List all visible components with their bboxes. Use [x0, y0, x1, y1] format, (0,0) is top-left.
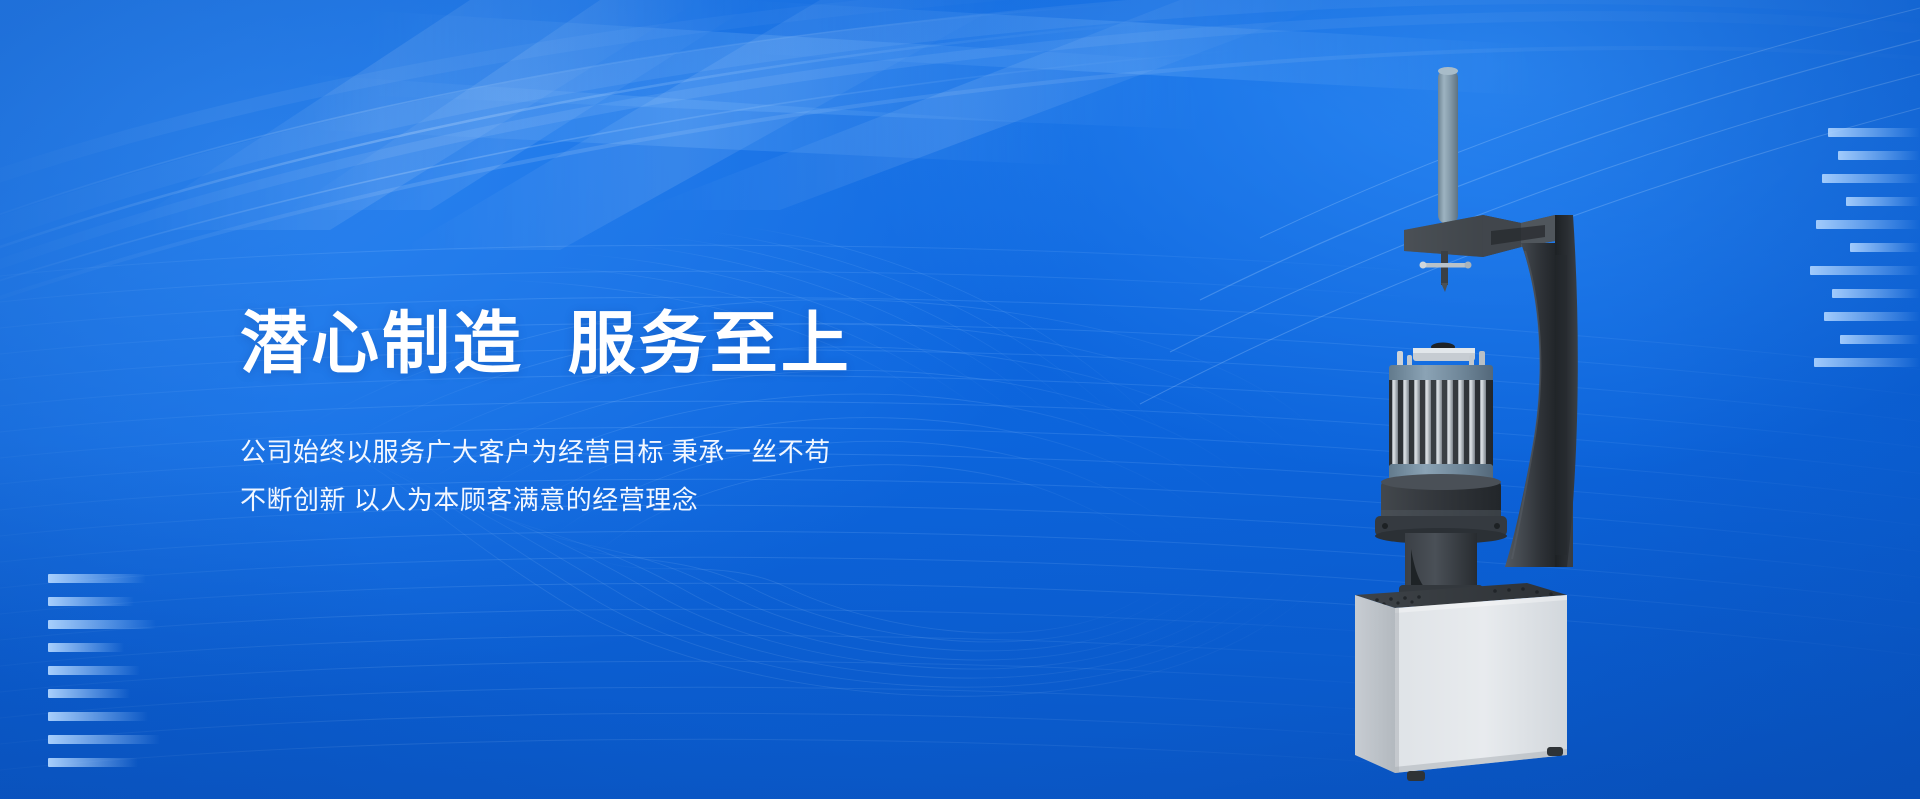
decor-bar	[48, 643, 124, 652]
decor-bar	[1838, 151, 1920, 160]
decor-bar	[1840, 335, 1920, 344]
decor-bar	[48, 758, 138, 767]
decor-bar	[1822, 174, 1920, 183]
decor-bar	[48, 735, 160, 744]
decor-bar	[48, 712, 148, 721]
filter-cartridge-part	[1389, 343, 1493, 483]
machine-illustration	[1355, 55, 1675, 799]
decor-bar	[1824, 312, 1920, 321]
vertical-guide-rod-part	[1438, 67, 1458, 224]
decor-bar	[48, 597, 134, 606]
decor-bar	[48, 666, 140, 675]
clamp-screw-part	[1420, 251, 1472, 292]
decor-bar	[1850, 243, 1920, 252]
banner-subtitle-line-2: 不断创新 以人为本顾客满意的经营理念	[240, 476, 1020, 524]
cabinet-base-part	[1355, 583, 1567, 773]
cartridge-ribs	[1392, 380, 1486, 466]
hero-banner: 潜心制造 服务至上 公司始终以服务广大客户为经营目标 秉承一丝不苟 不断创新 以…	[0, 0, 1920, 799]
banner-subtitle: 公司始终以服务广大客户为经营目标 秉承一丝不苟 不断创新 以人为本顾客满意的经营…	[240, 382, 1020, 524]
banner-copy-block: 潜心制造 服务至上 公司始终以服务广大客户为经营目标 秉承一丝不苟 不断创新 以…	[240, 306, 1020, 524]
decor-bar	[1828, 128, 1920, 137]
decor-bar	[1832, 289, 1920, 298]
bottom-left-bar-decoration	[48, 574, 160, 781]
decor-bar	[48, 689, 130, 698]
decor-bar	[1810, 266, 1920, 275]
decor-bar	[1846, 197, 1920, 206]
banner-headline: 潜心制造 服务至上	[240, 306, 1020, 382]
decor-bar	[48, 574, 146, 583]
support-column-part	[1505, 215, 1578, 567]
right-edge-bar-decoration	[1810, 128, 1920, 381]
banner-subtitle-line-1: 公司始终以服务广大客户为经营目标 秉承一丝不苟	[240, 428, 1020, 476]
decor-bar	[1814, 358, 1920, 367]
decor-bar	[1816, 220, 1920, 229]
decor-bar	[48, 620, 156, 629]
